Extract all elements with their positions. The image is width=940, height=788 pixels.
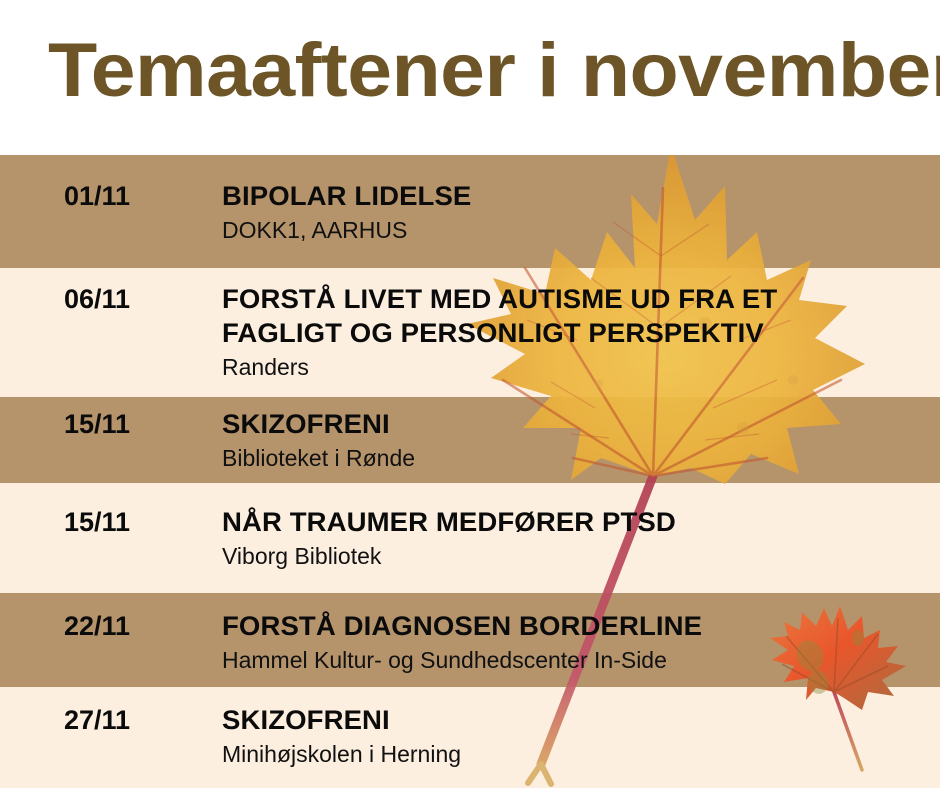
poster-canvas: Temaaftener i november 01/11 BIPOLAR LID… [0, 0, 940, 788]
page-title: Temaaftener i november [48, 28, 940, 114]
event-title: FORSTÅ LIVET MED AUTISME UD FRA ET FAGLI… [222, 282, 936, 350]
event-body: BIPOLAR LIDELSE DOKK1, AARHUS [222, 179, 922, 245]
event-title-line1: SKIZOFRENI [222, 409, 390, 439]
event-date: 27/11 [64, 705, 130, 735]
event-title-line1: NÅR TRAUMER MEDFØRER PTSD [222, 507, 676, 537]
event-place: Minihøjskolen i Herning [222, 737, 922, 769]
event-title-line1: FORSTÅ LIVET MED AUTISME UD FRA ET [222, 284, 777, 314]
event-title: SKIZOFRENI [222, 407, 936, 441]
event-body: SKIZOFRENI Biblioteket i Rønde [222, 407, 922, 473]
title-band: Temaaftener i november [0, 0, 940, 155]
list-item: 22/11 FORSTÅ DIAGNOSEN BORDERLINE Hammel… [0, 593, 940, 687]
event-date: 15/11 [64, 507, 130, 537]
list-item: 01/11 BIPOLAR LIDELSE DOKK1, AARHUS [0, 155, 940, 268]
event-title: FORSTÅ DIAGNOSEN BORDERLINE [222, 609, 936, 643]
event-date: 15/11 [64, 409, 130, 439]
event-date: 01/11 [64, 181, 130, 211]
list-item: 27/11 SKIZOFRENI Minihøjskolen i Herning [0, 687, 940, 788]
event-title: BIPOLAR LIDELSE [222, 179, 936, 213]
event-title-line1: BIPOLAR LIDELSE [222, 181, 471, 211]
event-place: DOKK1, AARHUS [222, 213, 922, 245]
event-title-line1: SKIZOFRENI [222, 705, 390, 735]
event-place: Randers [222, 350, 922, 382]
event-date: 06/11 [64, 284, 130, 314]
event-body: NÅR TRAUMER MEDFØRER PTSD Viborg Bibliot… [222, 505, 922, 571]
event-place: Biblioteket i Rønde [222, 441, 922, 473]
event-title-line2: FAGLIGT OG PERSONLIGT PERSPEKTIV [222, 316, 936, 350]
event-body: SKIZOFRENI Minihøjskolen i Herning [222, 703, 922, 769]
list-item: 15/11 SKIZOFRENI Biblioteket i Rønde [0, 397, 940, 483]
event-body: FORSTÅ LIVET MED AUTISME UD FRA ET FAGLI… [222, 282, 922, 382]
event-place: Viborg Bibliotek [222, 539, 922, 571]
event-place: Hammel Kultur- og Sundhedscenter In-Side [222, 643, 922, 675]
event-date: 22/11 [64, 611, 130, 641]
event-title: NÅR TRAUMER MEDFØRER PTSD [222, 505, 936, 539]
list-item: 15/11 NÅR TRAUMER MEDFØRER PTSD Viborg B… [0, 483, 940, 593]
event-body: FORSTÅ DIAGNOSEN BORDERLINE Hammel Kultu… [222, 609, 922, 675]
event-title: SKIZOFRENI [222, 703, 936, 737]
list-item: 06/11 FORSTÅ LIVET MED AUTISME UD FRA ET… [0, 268, 940, 397]
event-title-line1: FORSTÅ DIAGNOSEN BORDERLINE [222, 611, 702, 641]
